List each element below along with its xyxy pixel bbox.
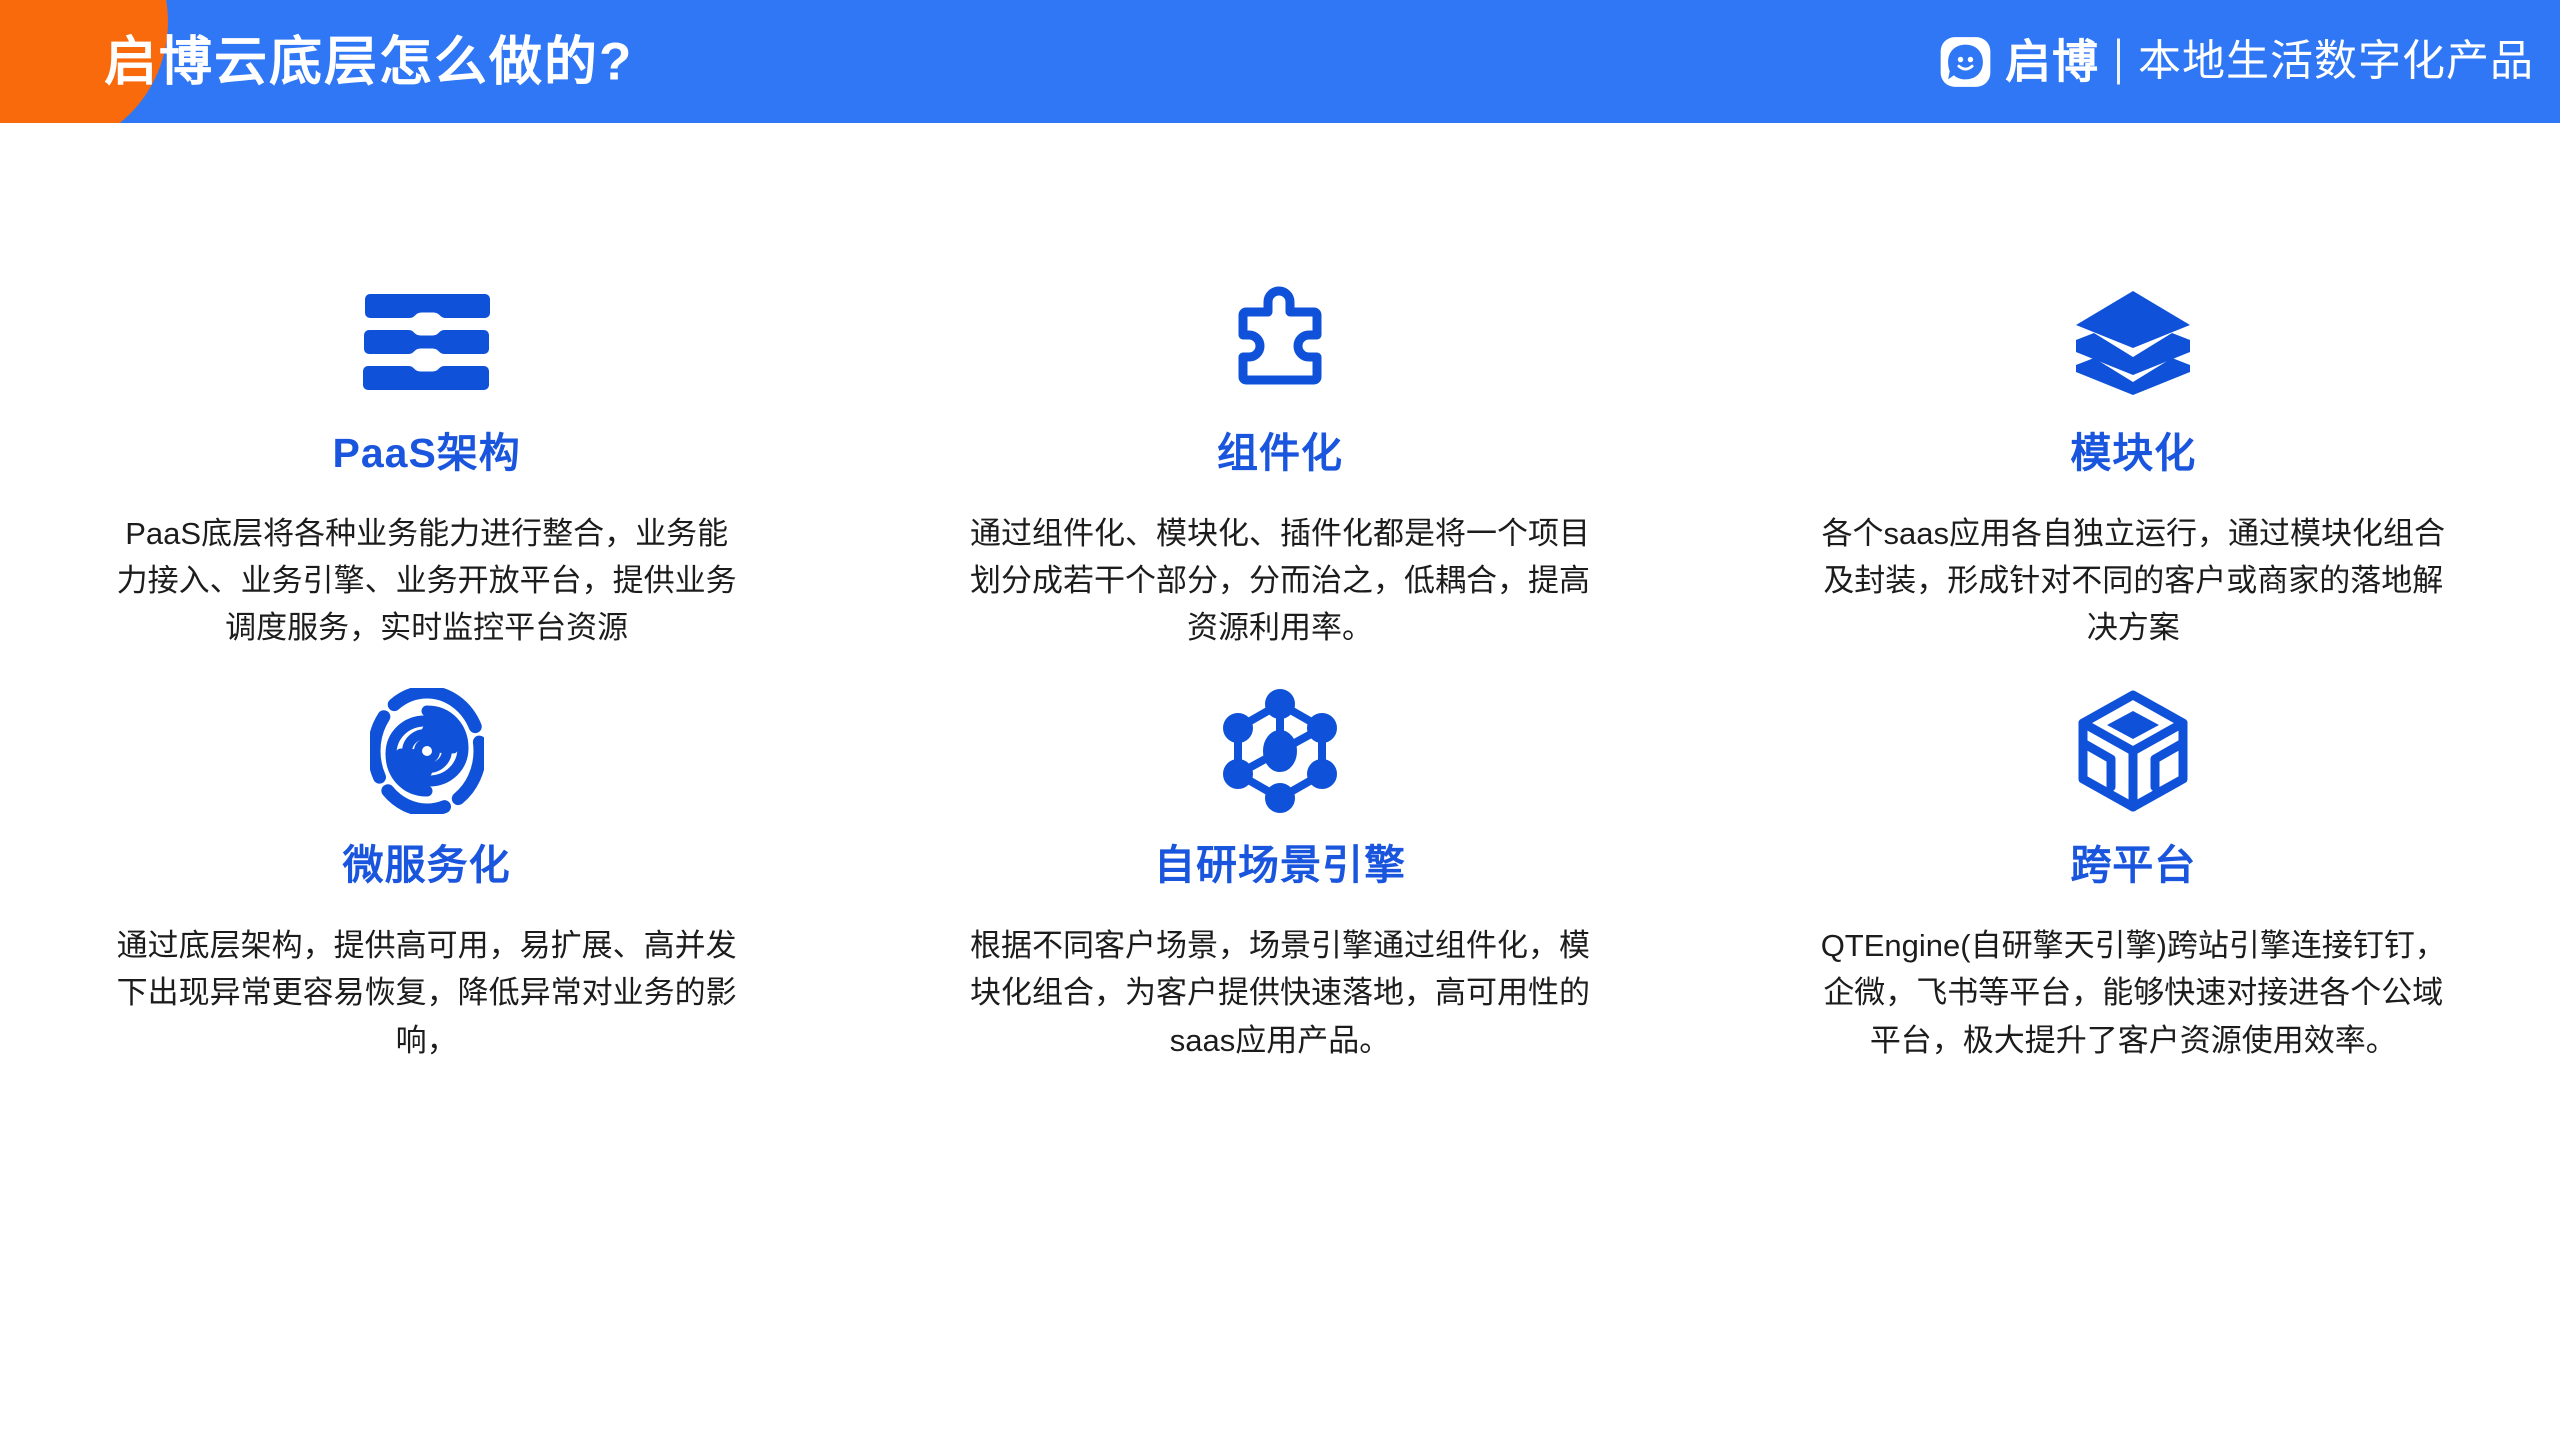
feature-card-description: QTEngine(自研擎天引擎)跨站引擎连接钉钉，企微，飞书等平台，能够快速对接… — [1818, 922, 2448, 1063]
feature-card-description: 各个saas应用各自独立运行，通过模块化组合及封装，形成针对不同的客户或商家的落… — [1818, 510, 2448, 651]
page-header: 启博云底层怎么做的? 启博 本地生活数字化产品 — [0, 0, 2560, 123]
feature-card-paas: PaaS架构 PaaS底层将各种业务能力进行整合，业务能力接入、业务引擎、业务开… — [0, 283, 853, 651]
feature-card-modularization: 模块化 各个saas应用各自独立运行，通过模块化组合及封装，形成针对不同的客户或… — [1707, 283, 2560, 651]
paas-stacked-bars-icon — [352, 283, 502, 403]
feature-card-description: 通过底层架构，提供高可用，易扩展、高并发下出现异常更容易恢复，降低异常对业务的影… — [112, 922, 742, 1063]
brand-mark: 启博 — [1939, 35, 2099, 88]
feature-card-scene-engine: 自研场景引擎 根据不同客户场景，场景引擎通过组件化，模块化组合，为客户提供快速落… — [853, 691, 1706, 1063]
brand-divider — [2117, 39, 2120, 85]
feature-card-description: 根据不同客户场景，场景引擎通过组件化，模块化组合，为客户提供快速落地，高可用性的… — [965, 922, 1595, 1063]
brand-block: 启博 本地生活数字化产品 — [1939, 35, 2534, 88]
feature-card-description: PaaS底层将各种业务能力进行整合，业务能力接入、业务引擎、业务开放平台，提供业… — [112, 510, 742, 651]
feature-card-description: 通过组件化、模块化、插件化都是将一个项目划分成若干个部分，分而治之，低耦合，提高… — [965, 510, 1595, 651]
feature-card-title: PaaS架构 — [333, 433, 521, 474]
feature-card-cross-platform: 跨平台 QTEngine(自研擎天引擎)跨站引擎连接钉钉，企微，飞书等平台，能够… — [1707, 691, 2560, 1063]
page-title: 启博云底层怎么做的? — [104, 35, 633, 88]
puzzle-piece-icon — [1205, 283, 1355, 403]
feature-card-title: 微服务化 — [343, 845, 511, 886]
brand-name: 启博 — [2005, 39, 2099, 85]
hexagon-node-graph-icon — [1205, 691, 1355, 811]
feature-card-title: 模块化 — [2070, 433, 2196, 474]
feature-card-title: 自研场景引擎 — [1154, 845, 1406, 886]
brand-tagline: 本地生活数字化产品 — [2138, 40, 2534, 83]
spiral-vortex-icon — [352, 691, 502, 811]
feature-card-microservices: 微服务化 通过底层架构，提供高可用，易扩展、高并发下出现异常更容易恢复，降低异常… — [0, 691, 853, 1063]
open-cube-box-icon — [2058, 691, 2208, 811]
smiley-bubble-logo-icon — [1939, 35, 1992, 88]
feature-grid: PaaS架构 PaaS底层将各种业务能力进行整合，业务能力接入、业务引擎、业务开… — [0, 123, 2560, 1064]
layers-stack-icon — [2058, 283, 2208, 403]
feature-card-componentization: 组件化 通过组件化、模块化、插件化都是将一个项目划分成若干个部分，分而治之，低耦… — [853, 283, 1706, 651]
feature-card-title: 组件化 — [1217, 433, 1343, 474]
feature-card-title: 跨平台 — [2070, 845, 2196, 886]
